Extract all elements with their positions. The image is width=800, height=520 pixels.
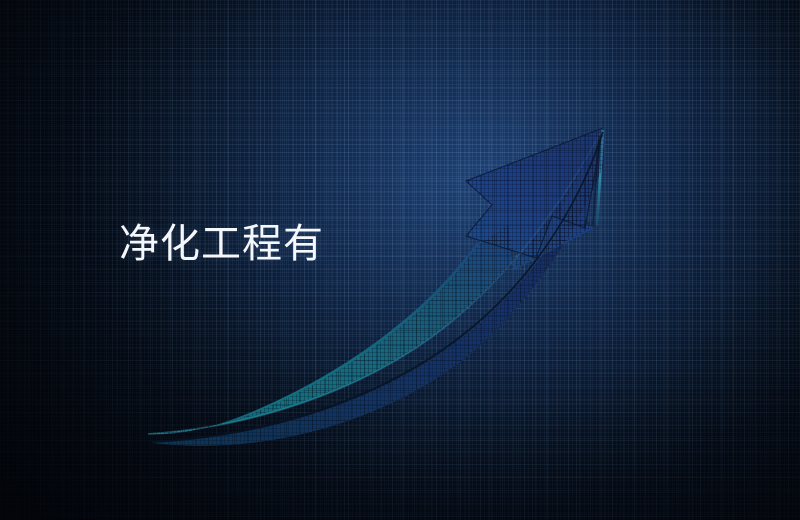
arrow-head-mesh-overlay <box>466 128 603 258</box>
page-title: 净化工程有 <box>119 221 324 267</box>
poster-canvas: 净化工程有 <box>0 0 800 520</box>
